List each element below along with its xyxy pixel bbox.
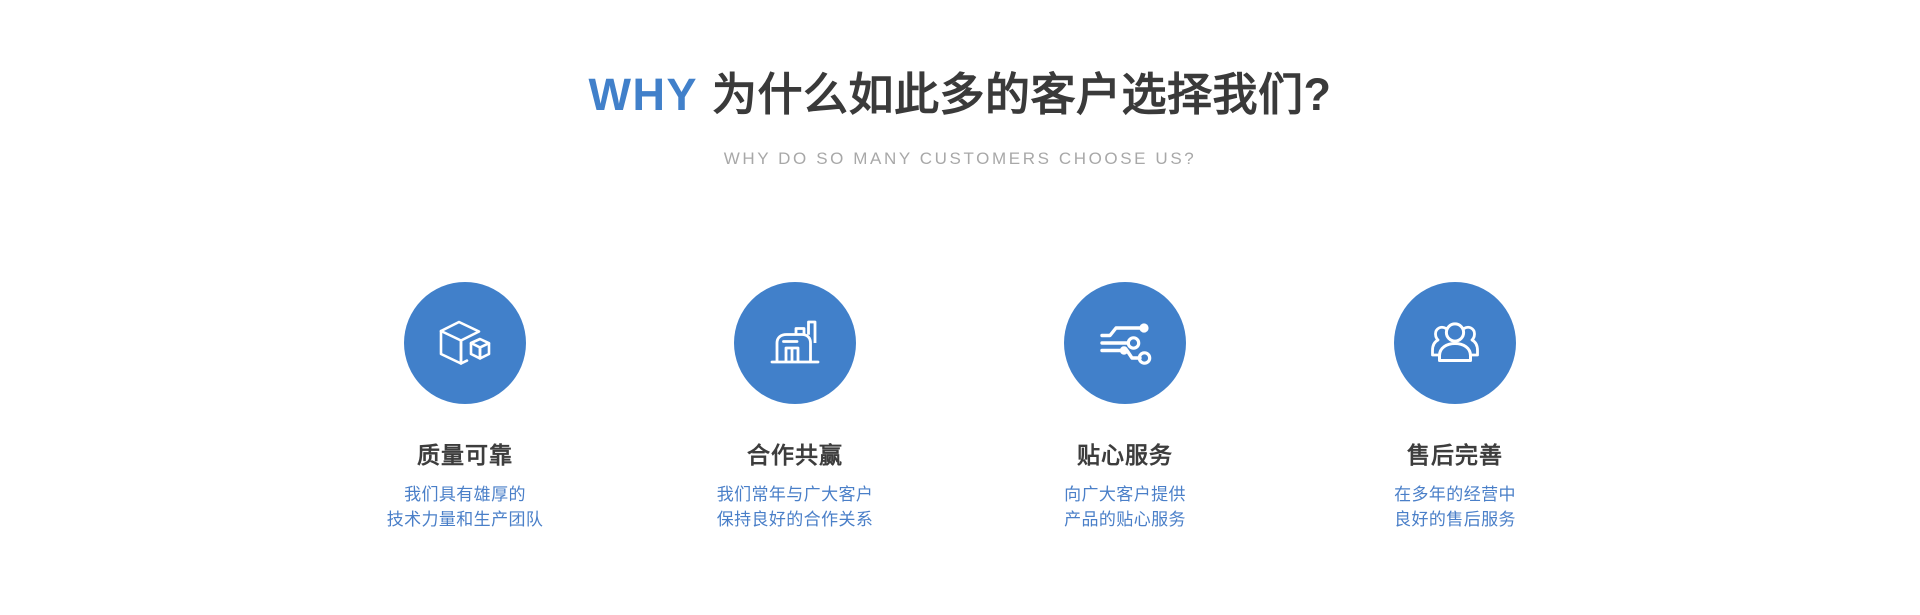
feature-description: 我们具有雄厚的 技术力量和生产团队 bbox=[387, 482, 544, 532]
feature-title: 质量可靠 bbox=[417, 440, 513, 470]
feature-desc-line-1: 我们具有雄厚的 bbox=[387, 482, 544, 507]
feature-title: 售后完善 bbox=[1407, 440, 1503, 470]
feature-desc-line-2: 保持良好的合作关系 bbox=[717, 507, 874, 532]
feature-item-cooperation[interactable]: 合作共赢 我们常年与广大客户 保持良好的合作关系 bbox=[630, 282, 960, 532]
feature-item-aftersales[interactable]: 售后完善 在多年的经营中 良好的售后服务 bbox=[1290, 282, 1620, 532]
users-group-icon bbox=[1424, 312, 1486, 374]
features-row: 质量可靠 我们具有雄厚的 技术力量和生产团队 bbox=[0, 282, 1920, 532]
title-why-word: WHY bbox=[589, 69, 699, 120]
feature-desc-line-2: 产品的贴心服务 bbox=[1064, 507, 1186, 532]
heading-block: WHY为什么如此多的客户选择我们? WHY DO SO MANY CUSTOME… bbox=[0, 0, 1920, 170]
feature-description: 向广大客户提供 产品的贴心服务 bbox=[1064, 482, 1186, 532]
feature-title: 合作共赢 bbox=[747, 440, 843, 470]
factory-icon bbox=[764, 312, 826, 374]
feature-desc-line-1: 向广大客户提供 bbox=[1064, 482, 1186, 507]
icon-circle-service bbox=[1064, 282, 1186, 404]
icon-circle-cooperation bbox=[734, 282, 856, 404]
feature-desc-line-2: 良好的售后服务 bbox=[1394, 507, 1516, 532]
icon-circle-aftersales bbox=[1394, 282, 1516, 404]
feature-item-quality[interactable]: 质量可靠 我们具有雄厚的 技术力量和生产团队 bbox=[300, 282, 630, 532]
feature-desc-line-2: 技术力量和生产团队 bbox=[387, 507, 544, 532]
feature-title: 贴心服务 bbox=[1077, 440, 1173, 470]
package-box-icon bbox=[434, 312, 496, 374]
feature-description: 在多年的经营中 良好的售后服务 bbox=[1394, 482, 1516, 532]
feature-description: 我们常年与广大客户 保持良好的合作关系 bbox=[717, 482, 874, 532]
feature-desc-line-1: 我们常年与广大客户 bbox=[717, 482, 874, 507]
feature-item-service[interactable]: 贴心服务 向广大客户提供 产品的贴心服务 bbox=[960, 282, 1290, 532]
title-chinese: 为什么如此多的客户选择我们? bbox=[712, 69, 1332, 120]
feature-desc-line-1: 在多年的经营中 bbox=[1394, 482, 1516, 507]
icon-circle-quality bbox=[404, 282, 526, 404]
circuit-nodes-icon bbox=[1094, 312, 1156, 374]
why-choose-us-section: WHY为什么如此多的客户选择我们? WHY DO SO MANY CUSTOME… bbox=[0, 0, 1920, 615]
page-title: WHY为什么如此多的客户选择我们? bbox=[0, 66, 1920, 124]
page-subtitle: WHY DO SO MANY CUSTOMERS CHOOSE US? bbox=[0, 148, 1920, 170]
